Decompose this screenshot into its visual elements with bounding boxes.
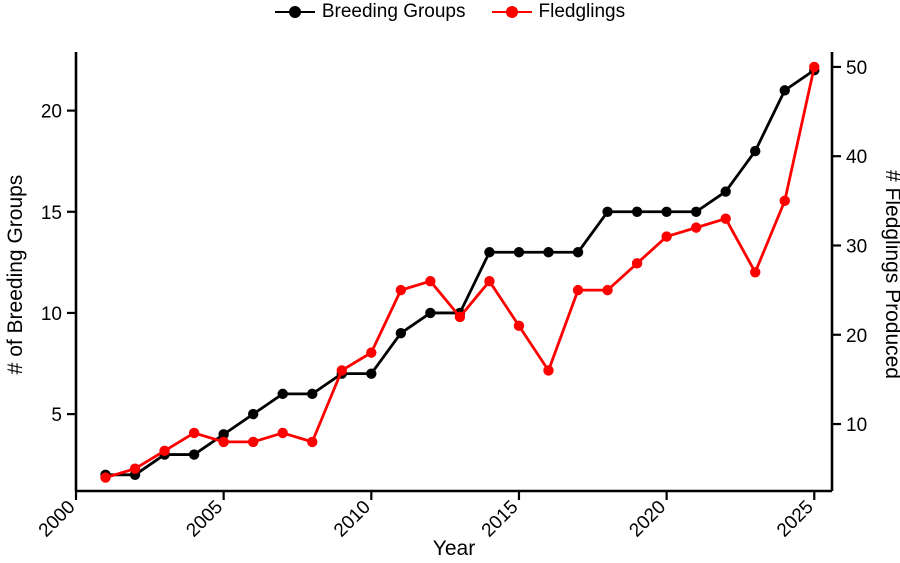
data-point (514, 247, 524, 257)
data-point (366, 368, 376, 378)
data-point (661, 231, 671, 241)
chart-plot-area: 200020052010201520202025 5101520 1020304… (0, 0, 900, 563)
data-point (130, 463, 140, 473)
series-line-fledglings (106, 67, 815, 478)
data-point (248, 437, 258, 447)
y-right-tick-label: 10 (846, 415, 867, 436)
y-left-tick-label: 15 (41, 203, 62, 224)
data-point (307, 437, 317, 447)
y-right-tick-label: 40 (846, 147, 867, 168)
x-tick-label: 2020 (625, 497, 670, 542)
data-point (720, 214, 730, 224)
y-axis-right-ticks: 1020304050 (832, 58, 867, 436)
data-point (750, 267, 760, 277)
legend-item-breeding-groups[interactable]: Breeding Groups (275, 2, 466, 21)
y-axis-left-ticks: 5101520 (41, 102, 76, 427)
x-tick-label: 2015 (478, 497, 523, 542)
data-point (484, 276, 494, 286)
legend-dot-fledglings (506, 6, 518, 18)
data-point (780, 85, 790, 95)
y-left-tick-label: 5 (51, 405, 62, 426)
data-point (396, 285, 406, 295)
legend-swatch-breeding-groups (275, 5, 315, 19)
data-point (189, 449, 199, 459)
data-point (780, 196, 790, 206)
data-point (278, 389, 288, 399)
data-point (543, 365, 553, 375)
data-point (809, 62, 819, 72)
data-point (425, 308, 435, 318)
data-point (337, 365, 347, 375)
x-tick-label: 2010 (330, 497, 375, 542)
data-point (159, 446, 169, 456)
legend-item-fledglings[interactable]: Fledglings (492, 2, 626, 21)
data-point (514, 321, 524, 331)
y-right-tick-label: 30 (846, 236, 867, 257)
legend-dot-breeding-groups (289, 6, 301, 18)
y-axis-right-title: # Fledglings Produced (881, 170, 900, 379)
data-point (189, 428, 199, 438)
legend-label-fledglings: Fledglings (539, 2, 626, 21)
data-point (573, 285, 583, 295)
data-point (691, 207, 701, 217)
x-tick-label: 2000 (35, 497, 80, 542)
data-point (632, 258, 642, 268)
data-point (455, 312, 465, 322)
data-point (602, 207, 612, 217)
data-point (396, 328, 406, 338)
data-point (484, 247, 494, 257)
y-left-tick-label: 10 (41, 304, 62, 325)
y-right-tick-label: 50 (846, 58, 867, 79)
data-point (632, 207, 642, 217)
chart-figure: Breeding Groups Fledglings 2000200520102… (0, 0, 900, 563)
data-point (573, 247, 583, 257)
data-point (602, 285, 612, 295)
data-point (720, 186, 730, 196)
y-left-tick-label: 20 (41, 102, 62, 123)
data-point (750, 146, 760, 156)
data-point (543, 247, 553, 257)
data-point (218, 437, 228, 447)
data-point (307, 389, 317, 399)
data-series-group (100, 62, 819, 483)
legend-swatch-fledglings (492, 5, 532, 19)
axis-lines (76, 52, 832, 491)
x-tick-label: 2025 (773, 497, 818, 542)
data-point (661, 207, 671, 217)
data-point (100, 472, 110, 482)
y-right-tick-label: 20 (846, 326, 867, 347)
series-line-breeding-groups (106, 70, 815, 475)
data-point (248, 409, 258, 419)
x-axis-ticks: 200020052010201520202025 (35, 491, 818, 541)
data-point (425, 276, 435, 286)
x-axis-title: Year (433, 537, 475, 560)
y-axis-left-title: # of Breeding Groups (4, 175, 27, 375)
data-point (691, 222, 701, 232)
x-tick-label: 2005 (182, 497, 227, 542)
legend-label-breeding-groups: Breeding Groups (322, 2, 466, 21)
data-point (278, 428, 288, 438)
data-point (366, 347, 376, 357)
